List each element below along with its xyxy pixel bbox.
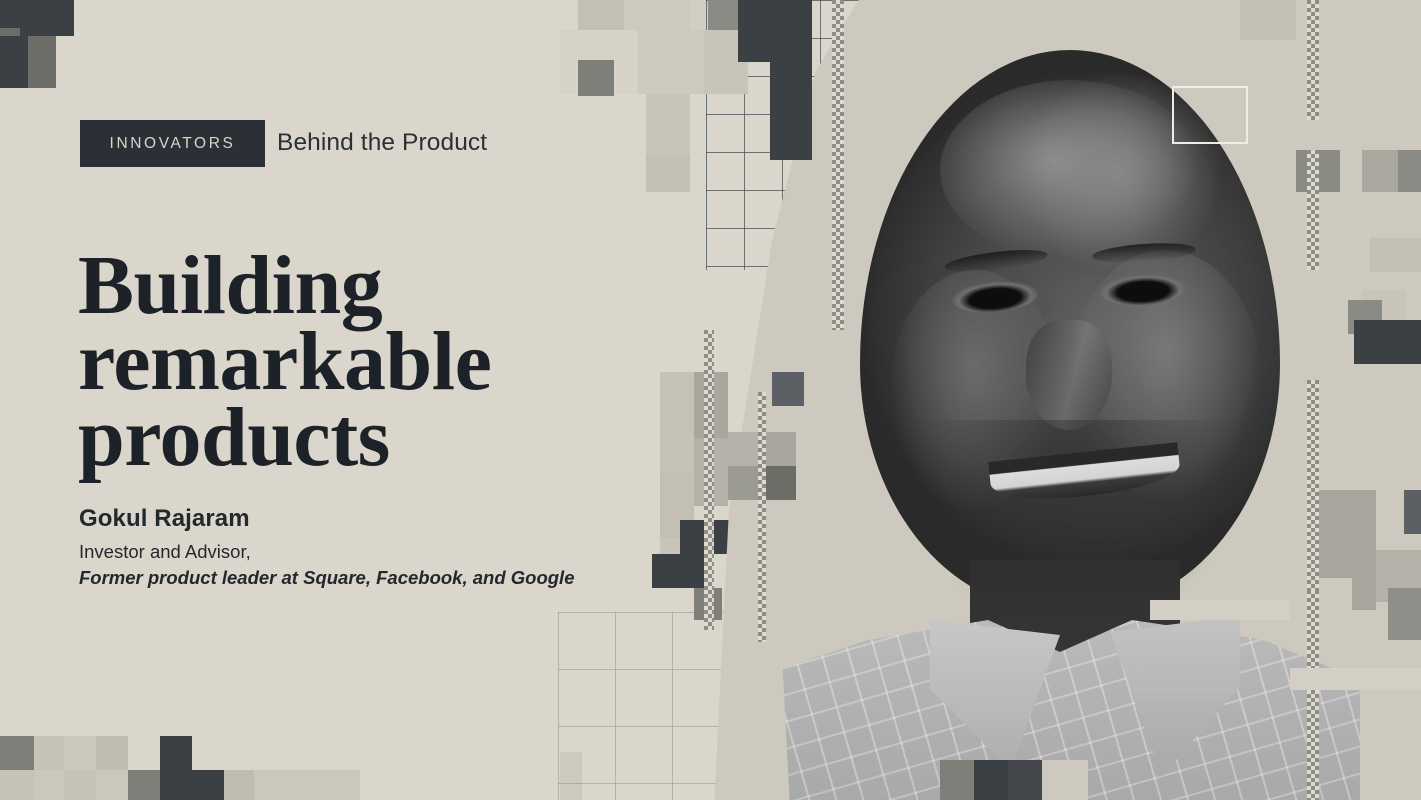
decor-block: [1296, 246, 1342, 304]
series-title: Behind the Product: [277, 129, 487, 157]
decor-light-bar: [1150, 600, 1290, 620]
decor-block: [578, 0, 624, 30]
decor-block: [64, 770, 96, 800]
decor-block: [1404, 490, 1421, 534]
speaker-info: Gokul Rajaram Investor and Advisor, Form…: [79, 505, 575, 591]
decor-block: [192, 770, 224, 800]
decor-block: [1398, 150, 1421, 192]
presentation-slide: INNOVATORS Behind the Product Building r…: [0, 0, 1421, 800]
decor-block: [0, 736, 34, 770]
decor-block: [0, 36, 28, 88]
decor-block: [0, 770, 34, 800]
decor-block: [1388, 588, 1421, 640]
decor-tape-strip: [704, 330, 714, 630]
portrait-forehead: [940, 80, 1200, 260]
decor-tape-strip: [1307, 590, 1319, 800]
decor-block: [762, 466, 796, 500]
decor-tape-strip: [832, 0, 844, 330]
decor-block: [772, 372, 804, 406]
title-line-2: remarkable: [78, 324, 638, 400]
decor-outline-box: [1172, 86, 1248, 144]
decor-light-bar: [1290, 668, 1421, 690]
decor-block: [96, 770, 128, 800]
decor-block: [624, 0, 690, 30]
decor-block: [974, 760, 1008, 800]
decor-block: [224, 770, 254, 800]
decor-block: [1370, 238, 1421, 272]
decor-block: [762, 432, 796, 466]
decor-block: [660, 372, 694, 472]
title-line-1: Building: [78, 248, 638, 324]
decor-block: [638, 30, 704, 94]
decor-block: [160, 736, 192, 800]
speaker-former-role: Former product leader at Square, Faceboo…: [79, 565, 575, 591]
decor-block: [96, 736, 128, 770]
decor-block: [738, 0, 774, 62]
speaker-name: Gokul Rajaram: [79, 505, 575, 533]
portrait-nose: [1026, 320, 1112, 430]
page-title: Building remarkable products: [78, 248, 638, 476]
decor-block: [1362, 150, 1398, 192]
decor-block: [1318, 578, 1352, 640]
decor-block: [254, 770, 360, 800]
title-line-3: products: [78, 400, 638, 476]
decor-block: [20, 0, 74, 36]
decor-block: [1042, 760, 1088, 800]
decor-block: [1354, 320, 1421, 364]
decor-block: [1176, 0, 1240, 24]
decor-block: [64, 736, 96, 770]
decor-block: [578, 60, 614, 96]
decor-block: [128, 770, 160, 800]
decor-block: [646, 94, 690, 156]
speaker-role: Investor and Advisor,: [79, 539, 575, 565]
decor-block: [34, 736, 64, 770]
decor-block: [1240, 0, 1296, 40]
decor-block: [940, 760, 974, 800]
innovators-badge: INNOVATORS: [80, 120, 265, 167]
decor-tape-strip: [1307, 0, 1319, 120]
decor-tape-strip: [758, 392, 766, 642]
decor-tape-strip: [1307, 150, 1319, 270]
decor-block: [728, 432, 762, 466]
decor-block: [708, 0, 738, 30]
innovators-badge-label: INNOVATORS: [110, 135, 236, 153]
decor-block: [770, 30, 812, 160]
decor-block: [1008, 760, 1042, 800]
decor-block: [646, 156, 690, 192]
decor-block: [34, 770, 64, 800]
decor-block: [728, 466, 762, 500]
